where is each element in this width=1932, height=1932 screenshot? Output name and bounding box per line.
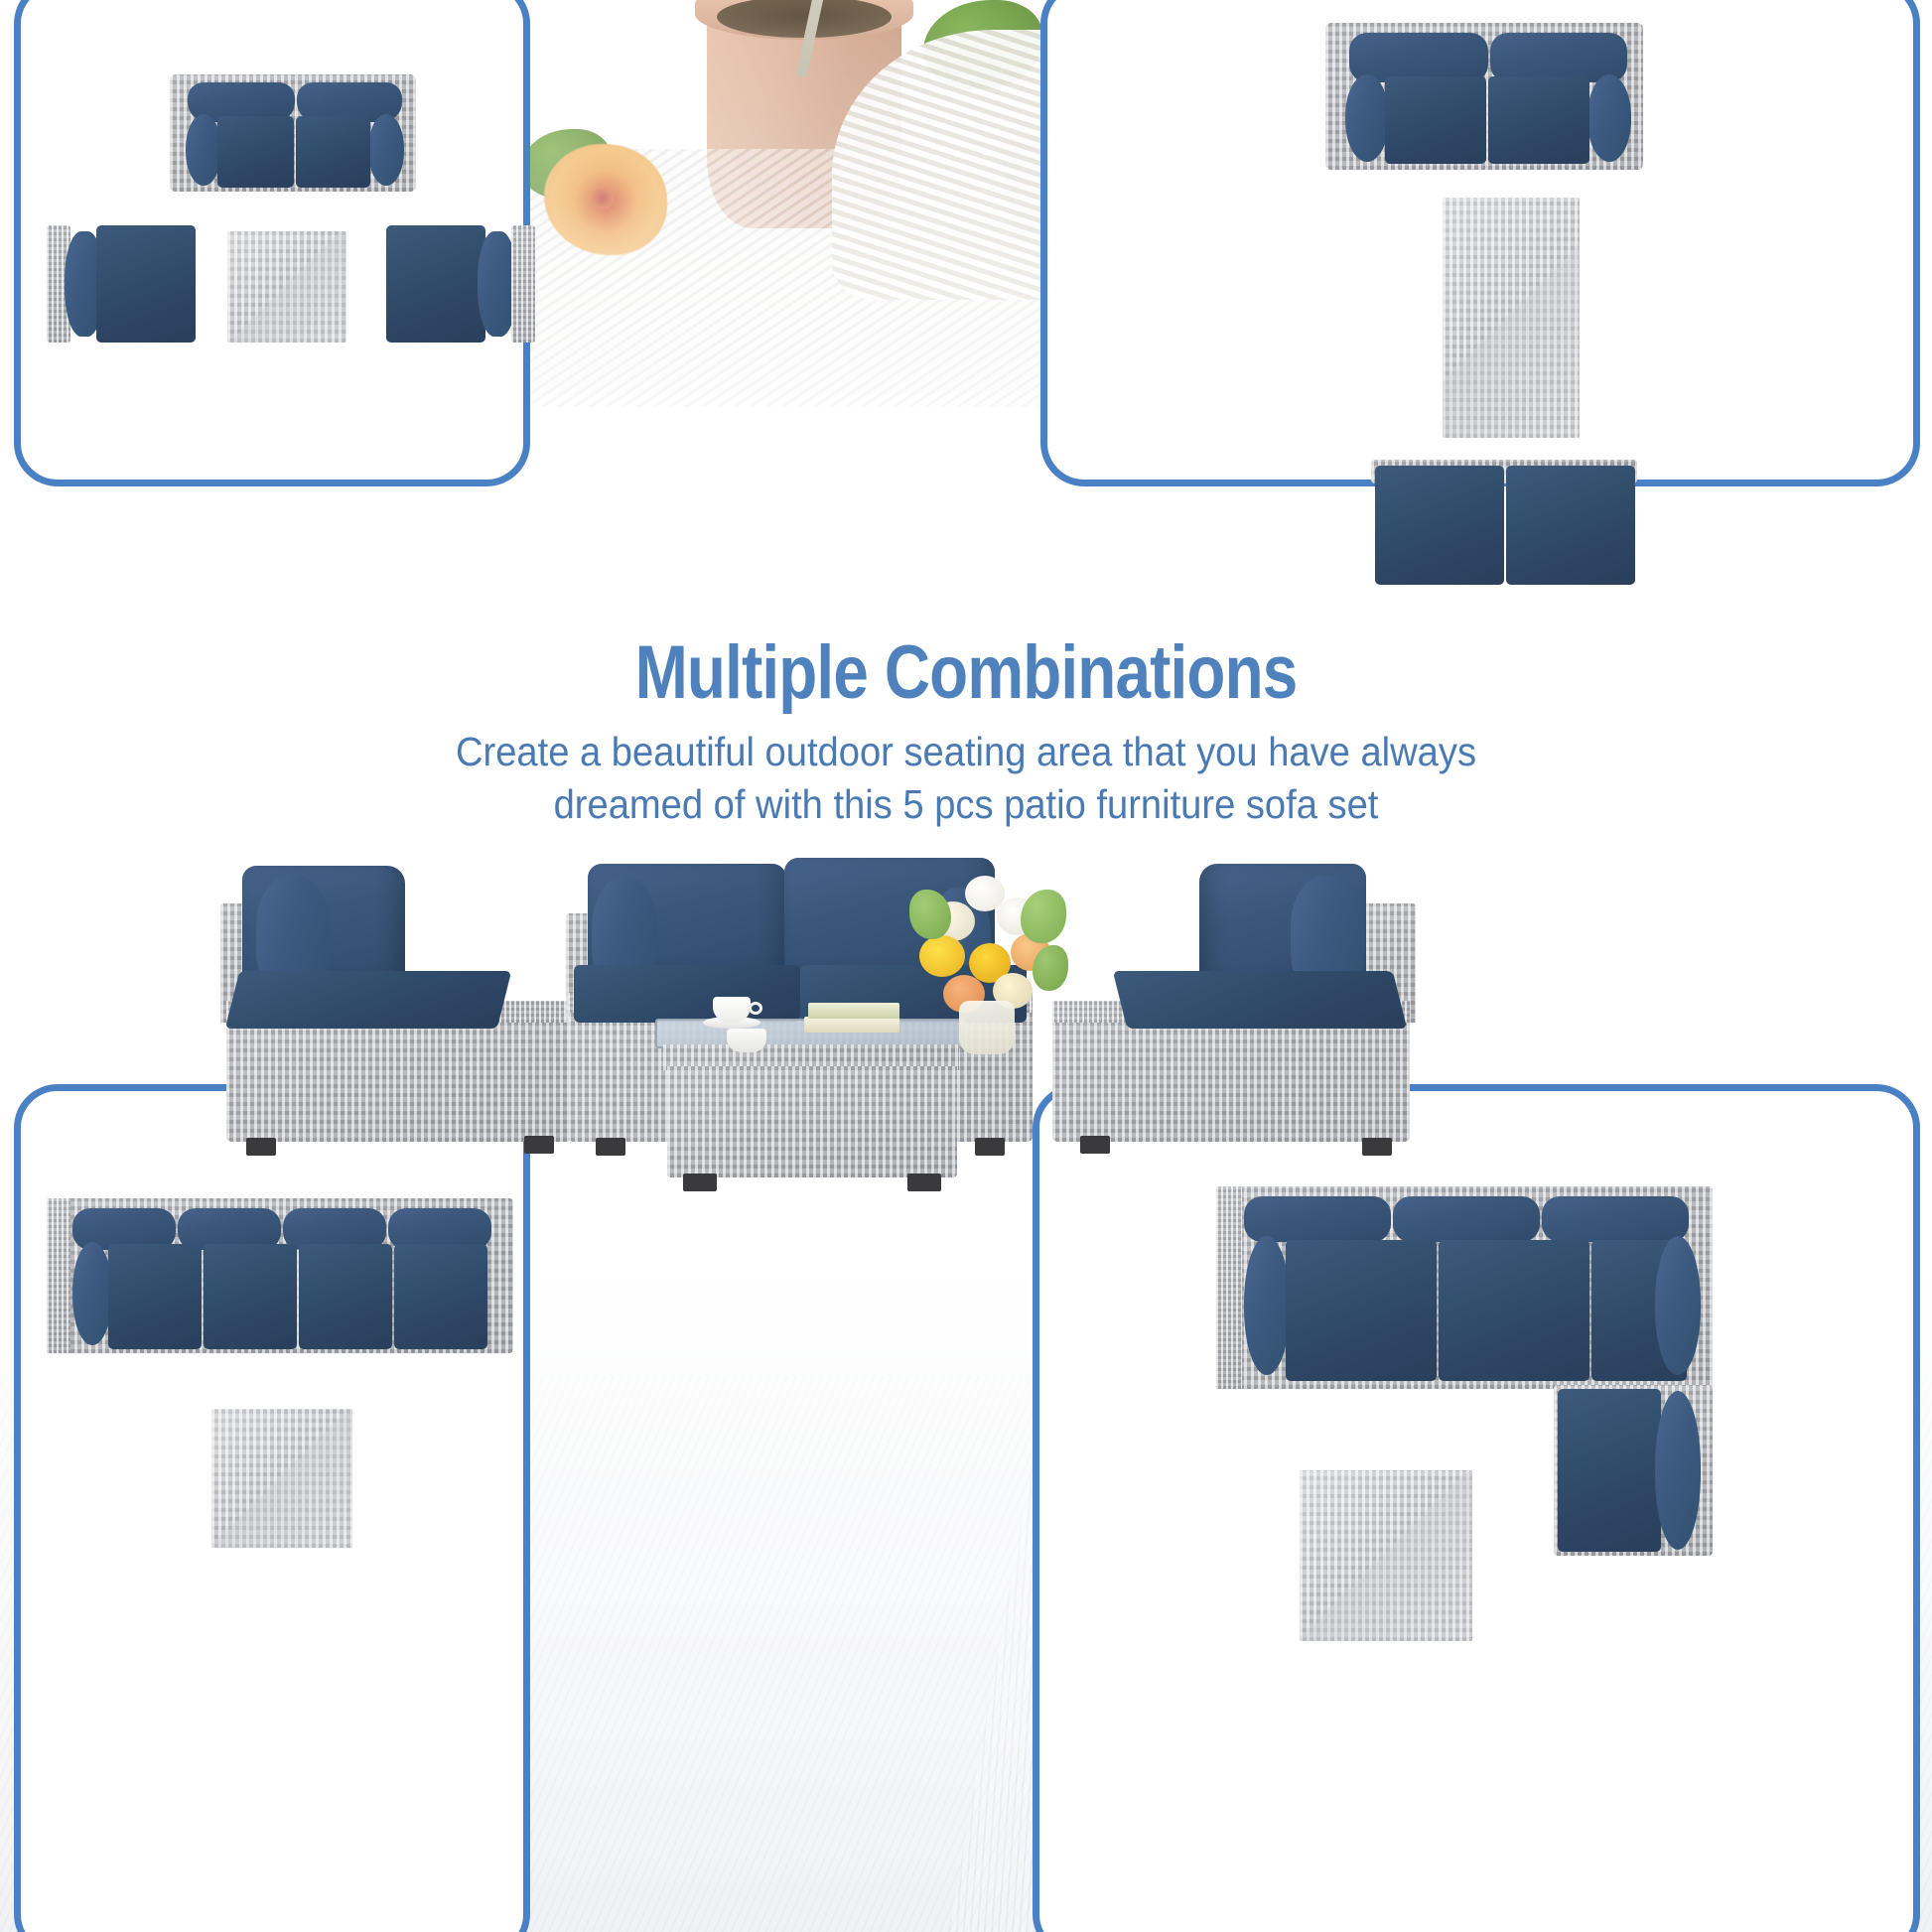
coffee-table-square (211, 1409, 352, 1548)
page-subtitle-line1: Create a beautiful outdoor seating area … (68, 727, 1864, 777)
hero-flower-bouquet (913, 872, 1072, 1031)
page-subtitle-line2: dreamed of with this 5 pcs patio furnitu… (68, 779, 1864, 830)
product-infographic: Multiple Combinations Create a beautiful… (0, 0, 1932, 1932)
coffee-table-rectangle (1443, 198, 1580, 438)
text-block: Multiple Combinations Create a beautiful… (0, 635, 1932, 830)
hero-furniture-set (0, 854, 1932, 1320)
page-title: Multiple Combinations (155, 635, 1778, 711)
coffee-table-square (227, 231, 346, 343)
panel-combination-top-left (14, 0, 530, 486)
coffee-table-square (1300, 1470, 1472, 1641)
panel-combination-top-right (1040, 0, 1920, 486)
